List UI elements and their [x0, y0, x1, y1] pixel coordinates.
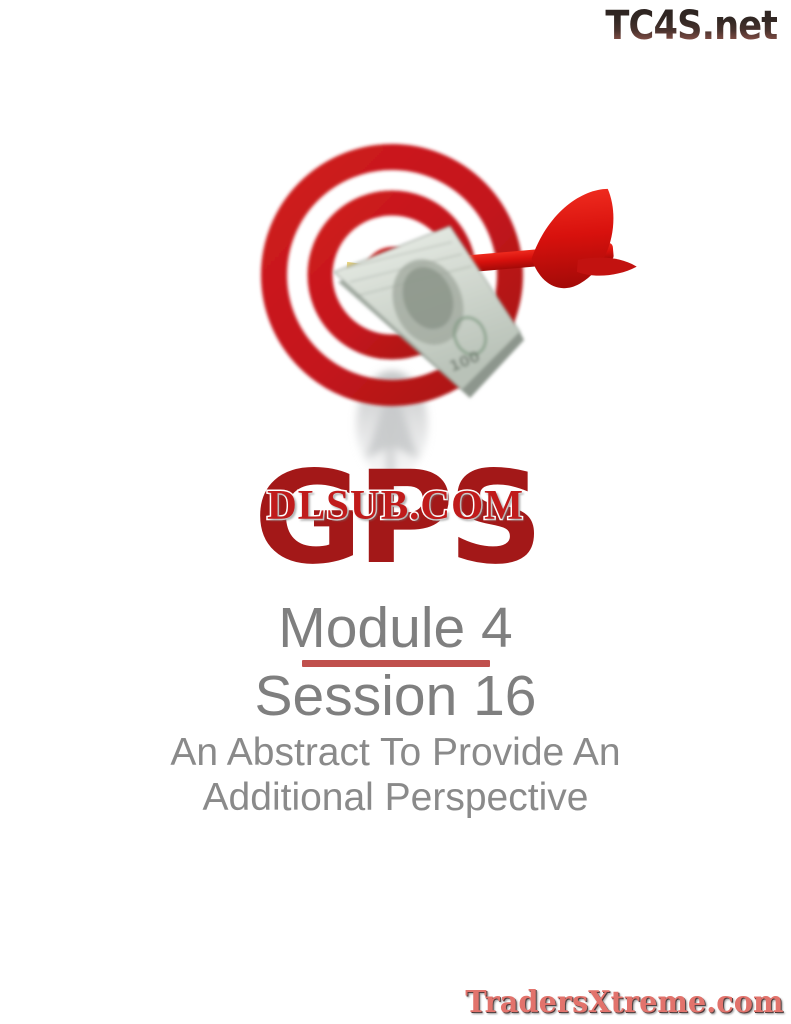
target-dart-money-illustration: 100	[0, 0, 791, 520]
brand-top-logo: TC4S.net	[605, 6, 777, 46]
brand-bottom-logo: TradersXtreme.com	[465, 988, 783, 1018]
subtitle-line-2: Additional Perspective	[0, 776, 791, 821]
money-stack: 100	[334, 226, 524, 398]
module-title: Module 4	[0, 600, 791, 659]
hero-artwork: 100	[0, 0, 791, 520]
gps-logo-block: GPS DLSUB.COM	[0, 455, 791, 605]
subtitle: An Abstract To Provide An Additional Per…	[0, 731, 791, 821]
cover-page: TC4S.net	[0, 0, 791, 1024]
dart-fletching	[526, 187, 638, 291]
subtitle-line-1: An Abstract To Provide An	[0, 731, 791, 776]
title-block: Module 4 Session 16 An Abstract To Provi…	[0, 600, 791, 821]
session-title: Session 16	[0, 668, 791, 725]
dart	[344, 187, 638, 291]
bullseye-rings	[274, 157, 510, 393]
dlsub-watermark: DLSUB.COM	[8, 485, 783, 527]
svg-text:100: 100	[447, 347, 483, 375]
